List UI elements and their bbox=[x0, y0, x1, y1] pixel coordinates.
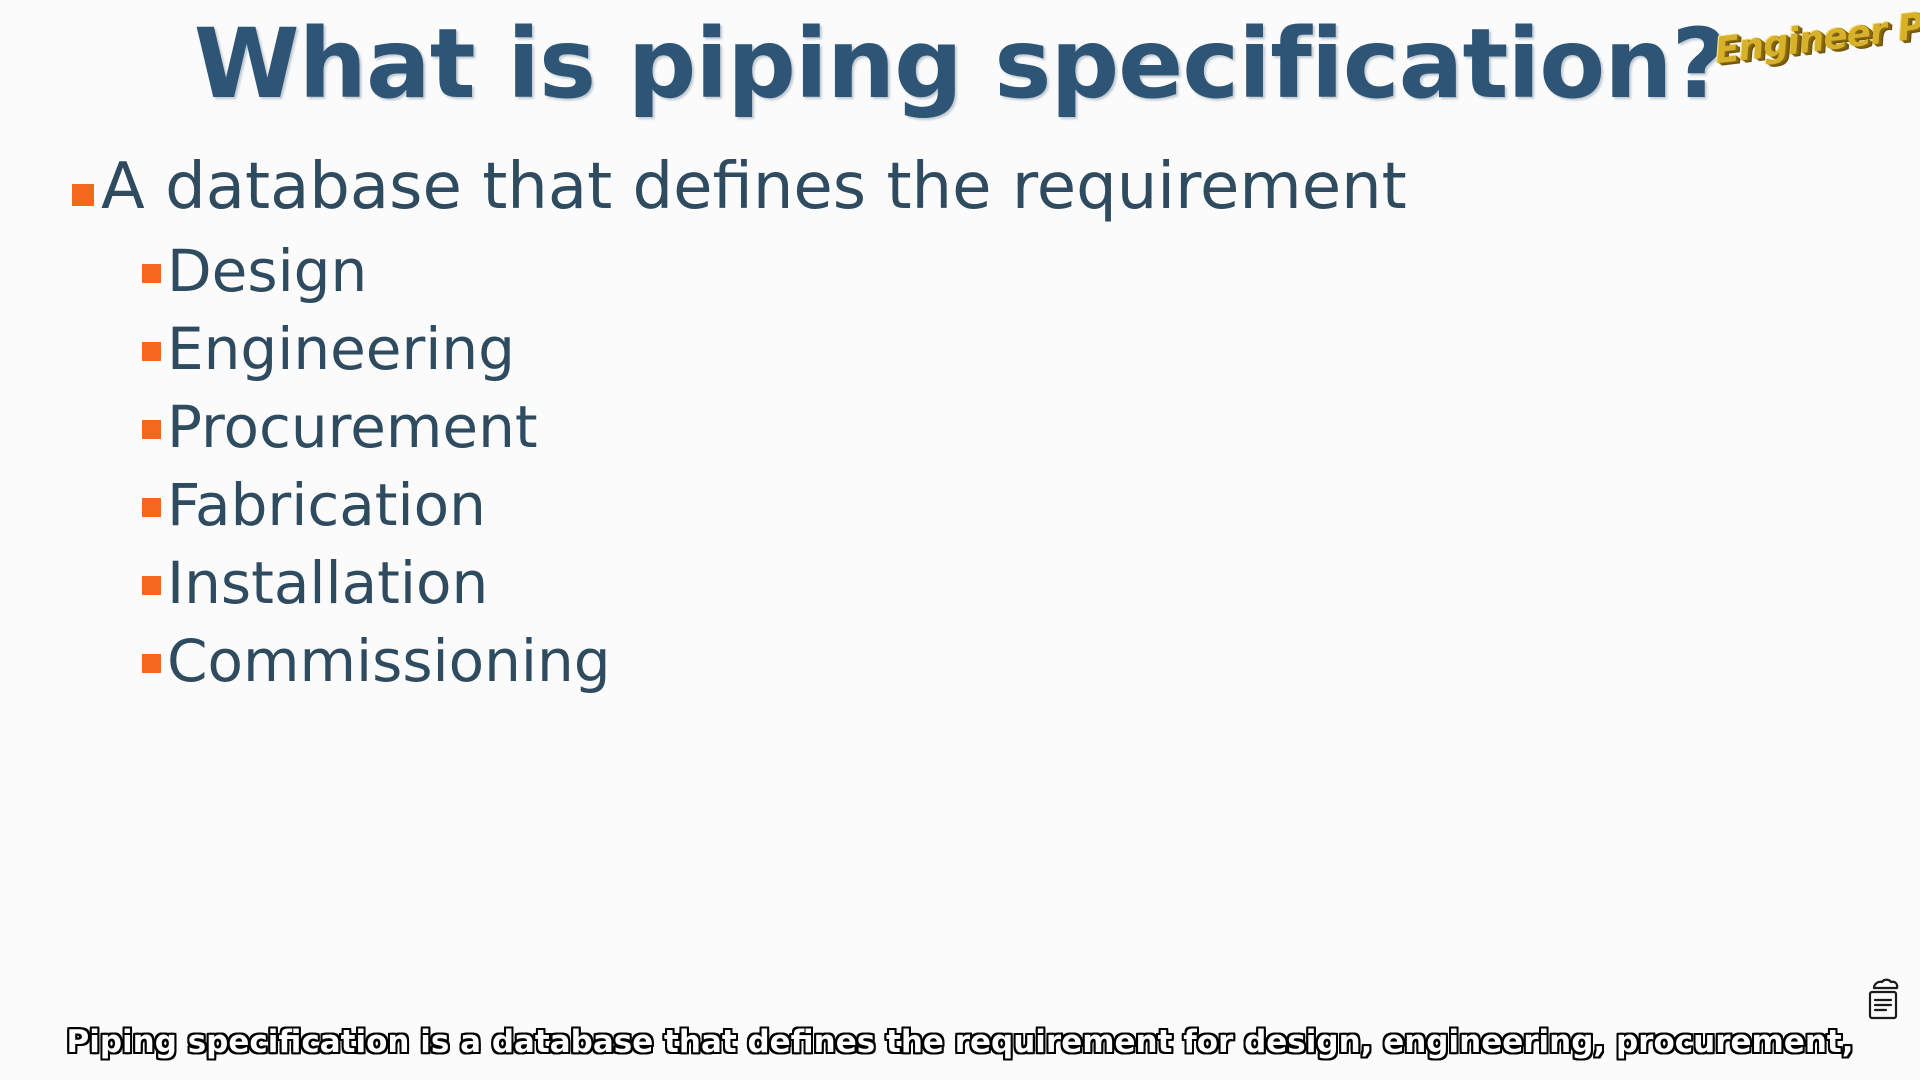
list-item-label: Engineering bbox=[167, 310, 515, 388]
list-item: Procurement bbox=[142, 388, 1832, 466]
list-item-label: Procurement bbox=[167, 388, 538, 466]
square-bullet-icon bbox=[142, 576, 161, 595]
square-bullet-icon bbox=[142, 264, 161, 283]
square-bullet-icon bbox=[142, 342, 161, 361]
list-item-label: Installation bbox=[167, 544, 488, 622]
square-bullet-icon bbox=[72, 184, 94, 206]
square-bullet-icon bbox=[142, 420, 161, 439]
list-item: Engineering bbox=[142, 310, 1832, 388]
video-caption: Piping specification is a database that … bbox=[0, 1022, 1920, 1062]
square-bullet-icon bbox=[142, 654, 161, 673]
list-item-label: Fabrication bbox=[167, 466, 486, 544]
list-item: Installation bbox=[142, 544, 1832, 622]
square-bullet-icon bbox=[142, 498, 161, 517]
page-title: What is piping specification? bbox=[0, 8, 1920, 120]
bullet-list: A database that defines the requirement … bbox=[72, 146, 1832, 700]
note-icon bbox=[1862, 976, 1904, 1022]
list-item: A database that defines the requirement bbox=[72, 146, 1832, 228]
list-item-label: Commissioning bbox=[167, 622, 611, 700]
list-item: Fabrication bbox=[142, 466, 1832, 544]
slide-canvas: What is piping specification? Engineer P… bbox=[0, 0, 1920, 1080]
list-item: Design bbox=[142, 232, 1832, 310]
list-item-label: A database that defines the requirement bbox=[101, 146, 1407, 228]
list-item: Commissioning bbox=[142, 622, 1832, 700]
list-item-label: Design bbox=[167, 232, 367, 310]
